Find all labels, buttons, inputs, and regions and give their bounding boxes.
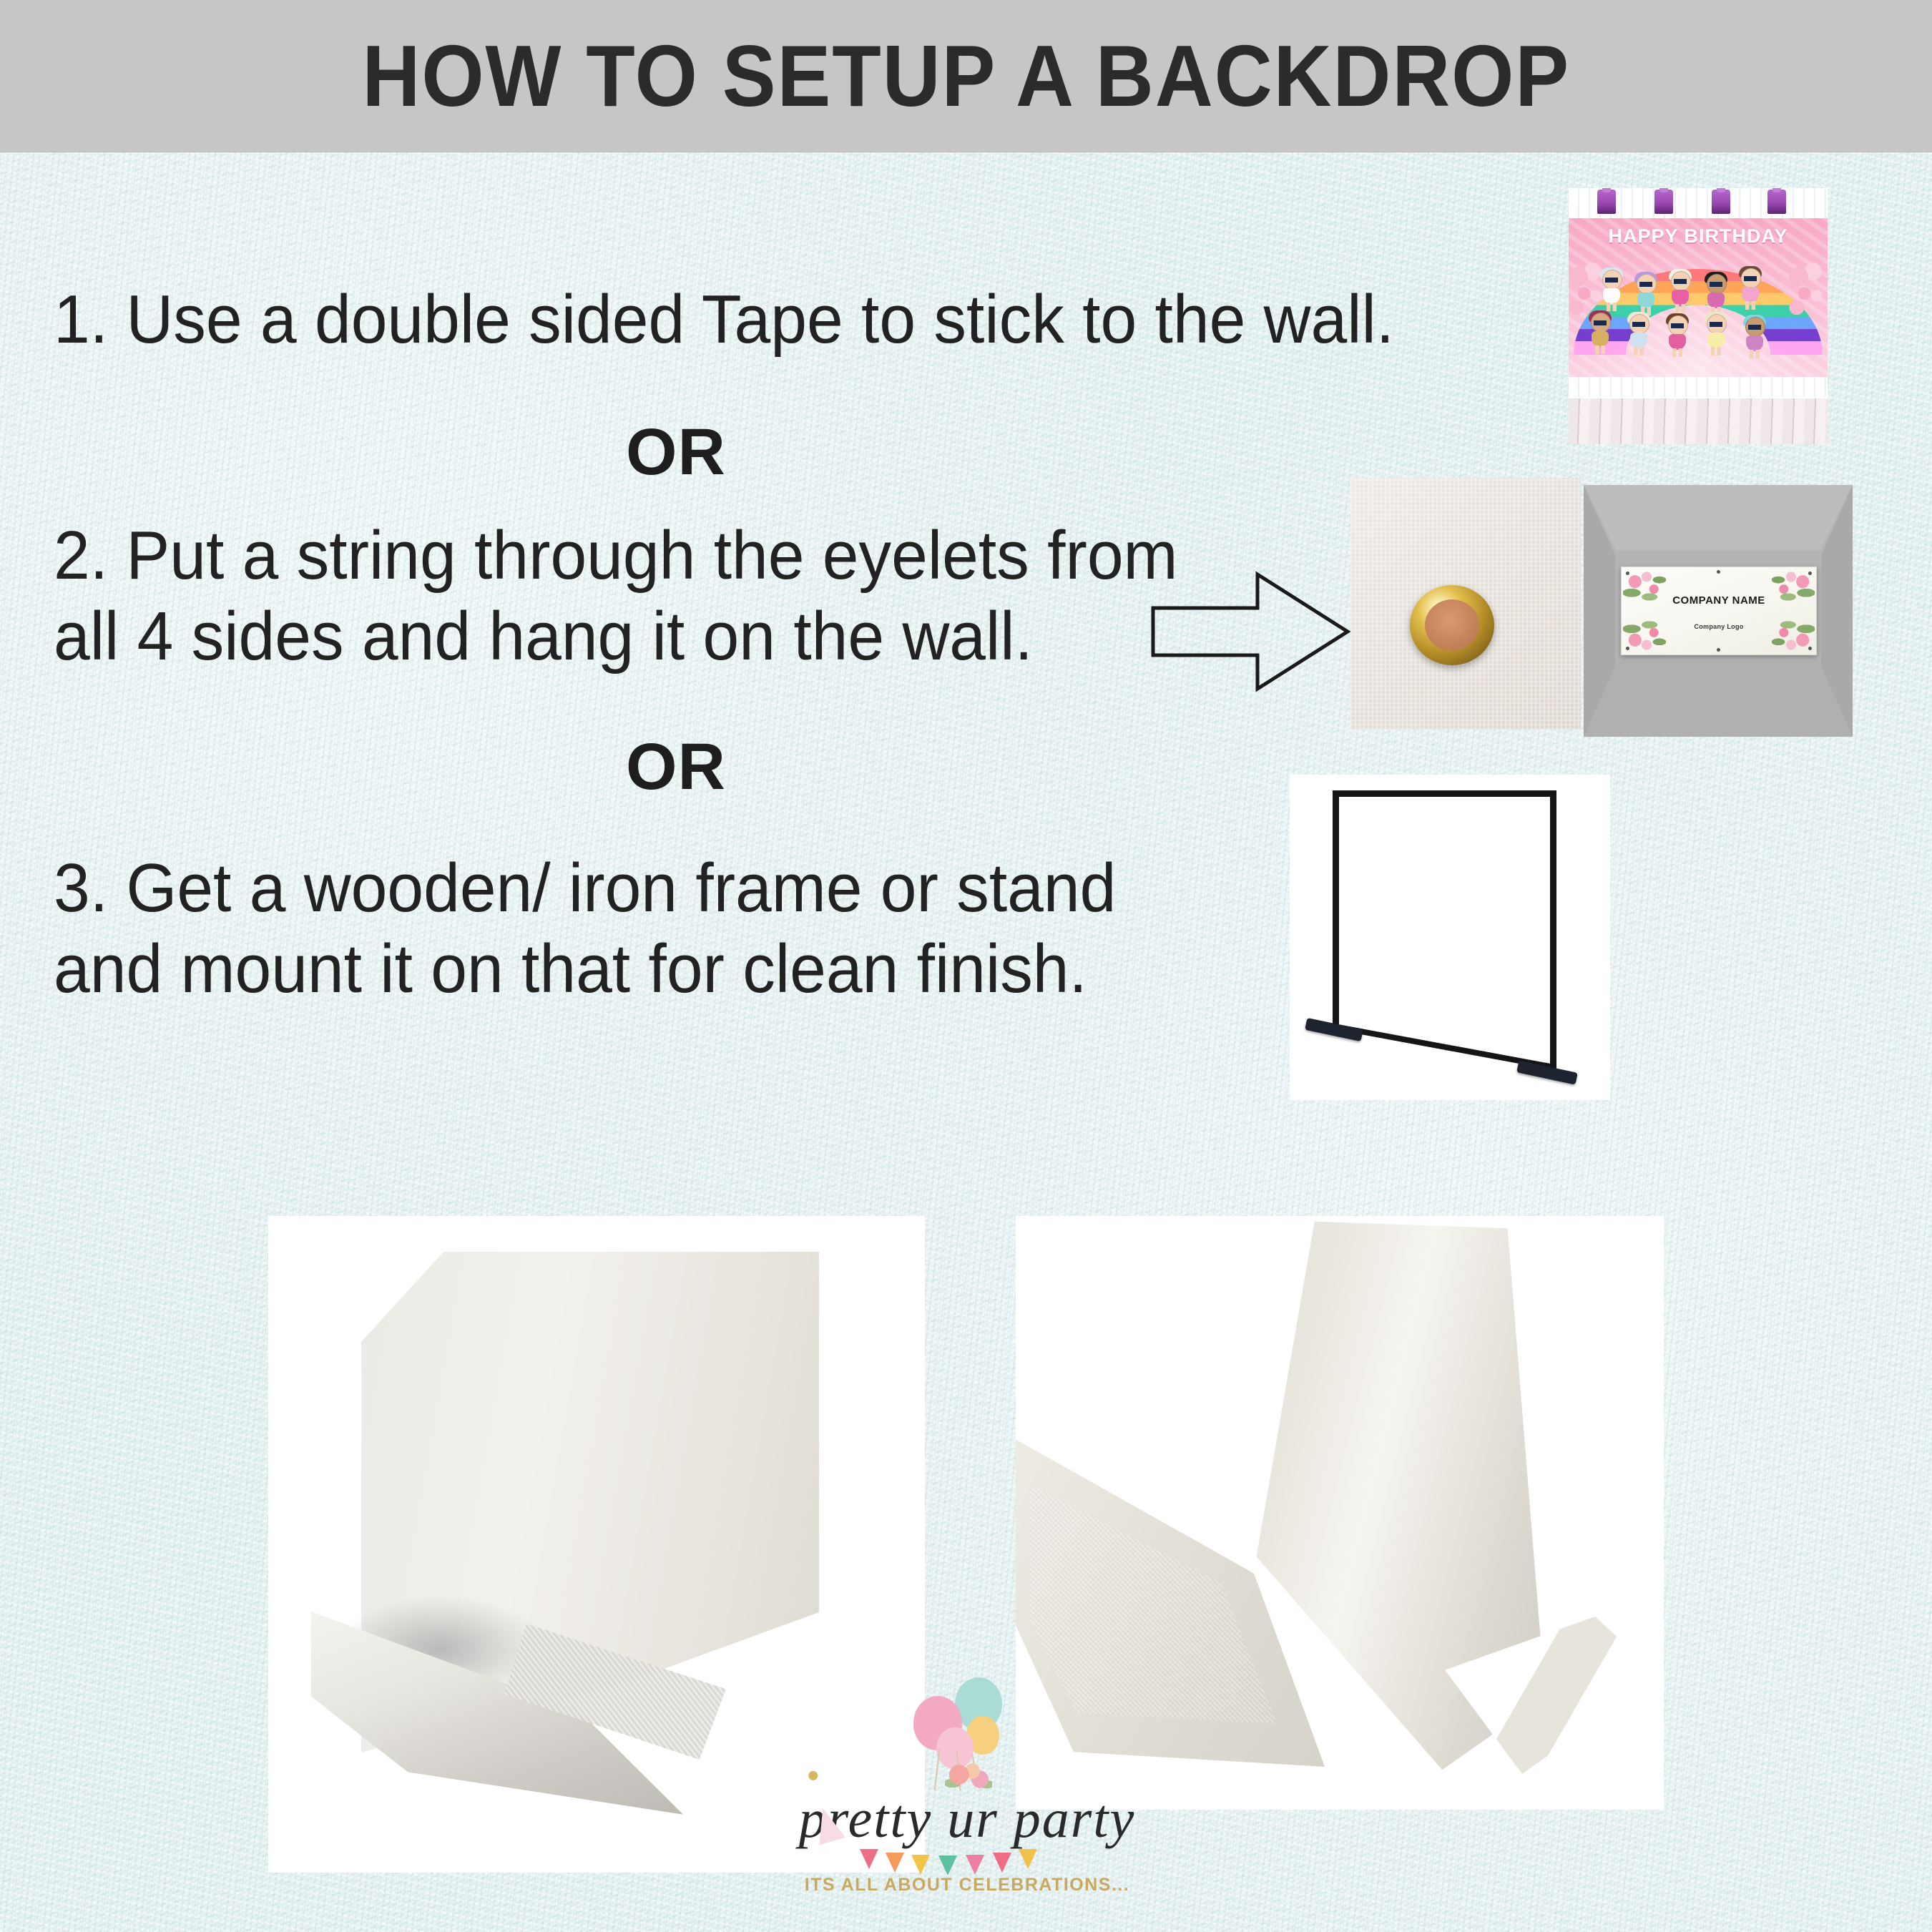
instruction-step-3: 3. Get a wooden/ iron frame or stand and… — [54, 848, 1243, 1010]
lol-doll — [1600, 270, 1623, 311]
balloon-illustration — [892, 1677, 1042, 1799]
instruction-step-2: 2. Put a string through the eyelets from… — [54, 515, 1209, 677]
stand-left-upright — [1333, 790, 1339, 1026]
balloon-cluster-right — [1789, 263, 1828, 327]
photo-grommet-eyelet — [1350, 478, 1581, 730]
lol-doll — [1589, 313, 1612, 354]
separator-or-2: OR — [626, 730, 726, 805]
stand-top-crossbar — [1334, 790, 1556, 797]
backdrop-clip-icon — [1767, 190, 1786, 214]
lol-doll — [1739, 268, 1762, 310]
bunting-flag — [938, 1855, 957, 1875]
backdrop-clip-icon — [1712, 190, 1730, 214]
bunting-flag — [886, 1853, 904, 1873]
brass-grommet-icon — [1410, 585, 1494, 665]
bunting-flag — [1019, 1849, 1037, 1869]
instruction-step-1: 1. Use a double sided Tape to stick to t… — [54, 279, 1515, 360]
right-arrow-icon — [1150, 569, 1350, 694]
photo-company-banner: COMPANY NAME Company Logo — [1584, 485, 1853, 737]
photo-backdrop-stand — [1290, 775, 1610, 1100]
logo-brand-name: pretty ur party — [799, 1792, 1135, 1846]
banner-grommet-icon — [1626, 572, 1629, 575]
banner-grommet-icon — [1808, 647, 1812, 650]
backdrop-bottom-strip — [1569, 377, 1828, 397]
page-title: HOW TO SETUP A BACKDROP — [362, 32, 1570, 119]
photo-lol-birthday-backdrop: HAPPY BIRTHDAY — [1569, 188, 1828, 444]
flower-bouquet-icon — [945, 1763, 992, 1792]
banner-grommet-icon — [1717, 648, 1720, 652]
lol-doll — [1627, 314, 1650, 355]
bunting-flag — [966, 1855, 984, 1875]
stand-right-upright — [1550, 790, 1556, 1071]
bunting-flag — [993, 1853, 1011, 1873]
bunting-flags — [860, 1849, 1074, 1873]
banner-company-logo-text: Company Logo — [1622, 623, 1816, 630]
banner-company-name: COMPANY NAME — [1622, 594, 1816, 607]
lol-doll — [1743, 317, 1766, 358]
lol-doll — [1669, 271, 1692, 313]
banner-grommet-icon — [1626, 647, 1629, 650]
brand-logo: pretty ur party ITS ALL ABOUT CELEBRATIO… — [752, 1677, 1182, 1921]
room-floor — [1584, 661, 1853, 737]
lol-doll — [1634, 274, 1657, 315]
room-ceiling — [1584, 485, 1853, 551]
header-band: HOW TO SETUP A BACKDROP — [0, 0, 1932, 152]
separator-or-1: OR — [626, 415, 726, 490]
lol-doll — [1666, 315, 1689, 357]
backdrop-happy-birthday-text: HAPPY BIRTHDAY — [1569, 225, 1828, 247]
banner-grommet-icon — [1808, 572, 1812, 575]
logo-tagline: ITS ALL ABOUT CELEBRATIONS... — [805, 1875, 1130, 1896]
bunting-flag — [911, 1855, 930, 1875]
backdrop-clip-icon — [1597, 190, 1616, 214]
lol-doll — [1705, 314, 1727, 355]
wooden-floor — [1569, 398, 1828, 444]
banner-grommet-icon — [1717, 570, 1720, 574]
floral-corner-icon — [1623, 616, 1666, 653]
lol-doll — [1705, 274, 1727, 315]
backdrop-clip-icon — [1654, 190, 1673, 214]
floral-banner: COMPANY NAME Company Logo — [1621, 567, 1817, 655]
bunting-flag — [860, 1849, 878, 1869]
